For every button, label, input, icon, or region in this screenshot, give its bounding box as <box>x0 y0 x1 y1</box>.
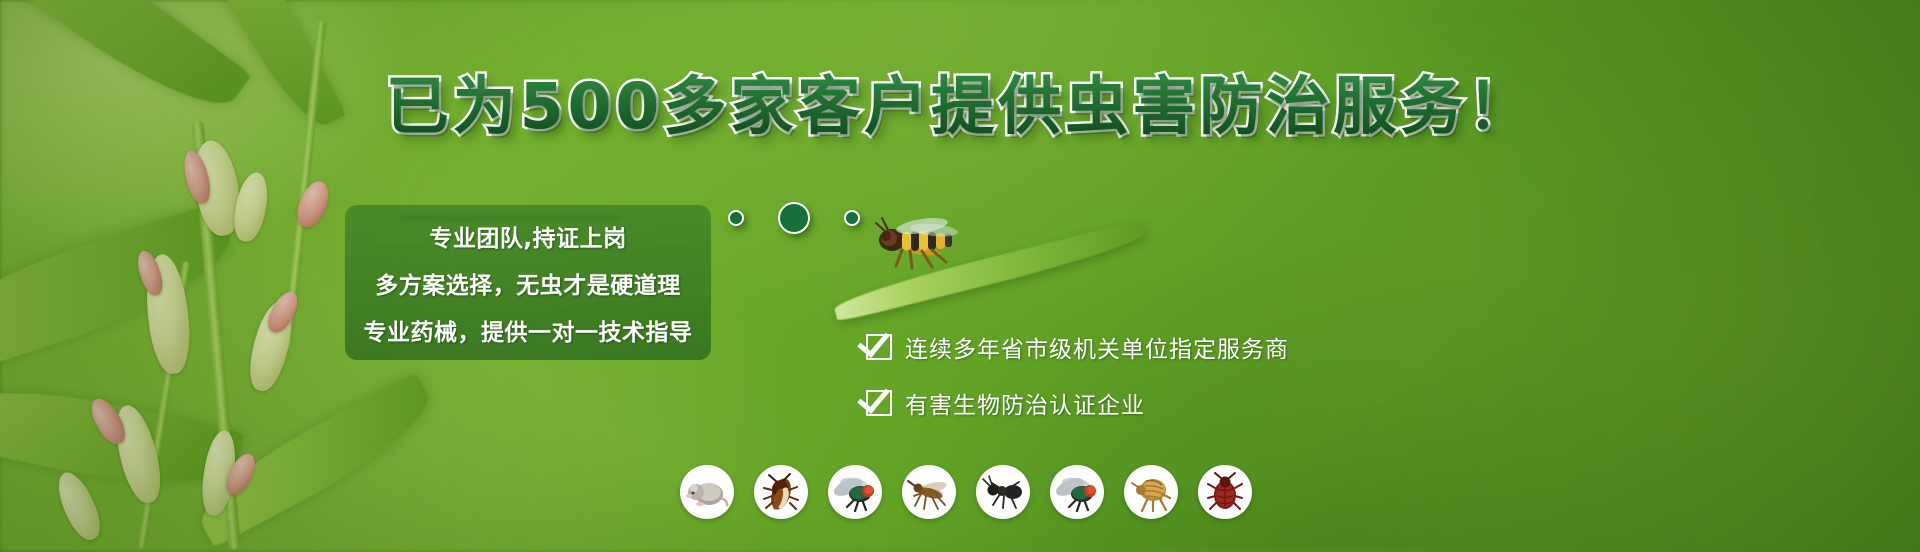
page-title-outline: 已为500多家客户提供虫害防治服务！ <box>0 72 1920 141</box>
selling-points-panel: 专业团队,持证上岗 多方案选择，无虫才是硬道理 专业药械，提供一对一技术指导 <box>345 205 711 360</box>
decorative-divider-row <box>0 196 1920 240</box>
fly-icon[interactable] <box>828 465 882 519</box>
flea-icon[interactable] <box>1124 465 1178 519</box>
list-item: 连续多年省市级机关单位指定服务商 <box>866 330 1289 364</box>
cockroach-icon[interactable] <box>754 465 808 519</box>
pest-type-icon-row <box>680 465 1252 519</box>
dot-small-right <box>844 210 860 226</box>
selling-point-line-1: 专业团队,持证上岗 <box>429 219 626 253</box>
credential-label: 有害生物防治认证企业 <box>905 386 1145 420</box>
checkbox-checked-icon <box>866 334 892 360</box>
bedbug-icon[interactable] <box>1198 465 1252 519</box>
credentials-checklist: 连续多年省市级机关单位指定服务商 有害生物防治认证企业 <box>866 330 1289 420</box>
credential-label: 连续多年省市级机关单位指定服务商 <box>905 330 1289 364</box>
checkbox-checked-icon <box>866 390 892 416</box>
mosquito-icon[interactable] <box>902 465 956 519</box>
ant-icon[interactable] <box>976 465 1030 519</box>
selling-point-line-3: 专业药械，提供一对一技术指导 <box>364 313 693 347</box>
housefly-icon[interactable] <box>1050 465 1104 519</box>
selling-point-line-2: 多方案选择，无虫才是硬道理 <box>375 266 681 300</box>
decorative-dots <box>720 196 880 240</box>
dot-large-center <box>778 202 810 234</box>
list-item: 有害生物防治认证企业 <box>866 386 1289 420</box>
pest-control-hero-banner: 已为500多家客户提供虫害防治服务！ 已为500多家客户提供虫害防治服务！ 专业… <box>0 0 1920 552</box>
dot-small-left <box>728 210 744 226</box>
rat-icon[interactable] <box>680 465 734 519</box>
